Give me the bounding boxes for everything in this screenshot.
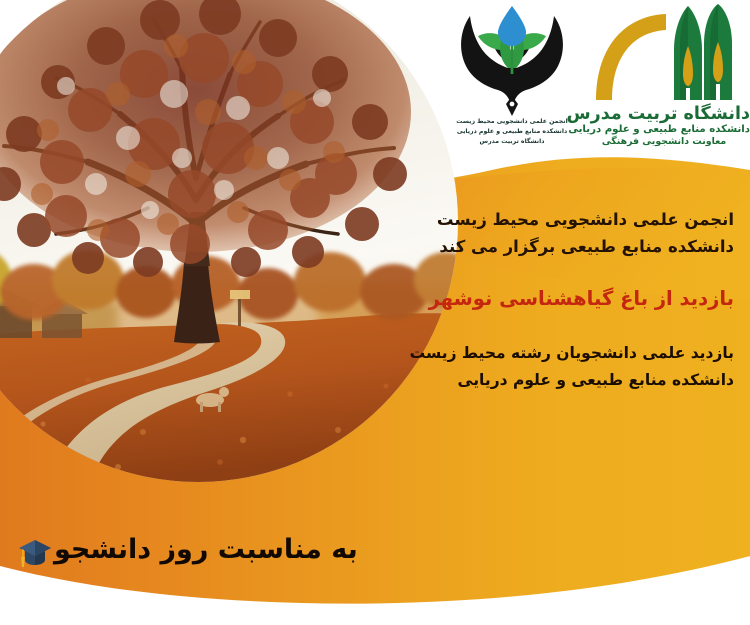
headline-block: بازدید از باغ گیاهشناسی نوشهر — [394, 284, 734, 314]
poster-body-copy: انجمن علمی دانشجویی محیط زیست دانشکده من… — [394, 206, 734, 394]
graduation-cap-icon — [18, 538, 52, 568]
detail-line-1: بازدید علمی دانشجویان رشته محیط زیست — [394, 340, 734, 367]
detail-line-2: دانشکده منابع طبیعی و علوم دریایی — [394, 367, 734, 394]
logo-left-caption-line2: دانشکده منابع طبیعی و علوم دریایی — [452, 127, 572, 136]
footer-slogan: به مناسبت روز دانشجو — [0, 522, 420, 578]
hands-leaf-drop-icon — [452, 4, 572, 116]
university-subtitle2: معاونت دانشجویی فرهنگی — [578, 136, 750, 148]
logo-left-caption-line3: دانشگاه تربیت مدرس — [452, 137, 572, 146]
detail-block: بازدید علمی دانشجویان رشته محیط زیست دان… — [394, 340, 734, 394]
tarbiat-modares-university-logo: دانشگاه تربیت مدرس دانشکده منابع طبیعی و… — [578, 4, 750, 169]
poster-root: انجمن علمی دانشجویی محیط زیست دانشکده من… — [0, 0, 750, 625]
university-emblem-icon — [578, 4, 750, 104]
intro-line-2: دانشکده منابع طبیعی برگزار می کند — [394, 233, 734, 260]
university-title: دانشگاه تربیت مدرس — [578, 105, 750, 124]
university-subtitle1: دانشکده منابع طبیعی و علوم دریایی — [578, 124, 750, 136]
intro-line-1: انجمن علمی دانشجویی محیط زیست — [394, 206, 734, 233]
logo-left-caption-line1: انجمن علمی دانشجویی محیط زیست — [452, 117, 572, 126]
environment-student-association-logo: انجمن علمی دانشجویی محیط زیست دانشکده من… — [452, 4, 572, 169]
intro-block: انجمن علمی دانشجویی محیط زیست دانشکده من… — [394, 206, 734, 260]
autumn-forest-path-photo — [0, 0, 458, 482]
headline-line-1: بازدید از باغ گیاهشناسی نوشهر — [394, 284, 734, 314]
footer-slogan-text: به مناسبت روز دانشجو — [54, 530, 358, 570]
